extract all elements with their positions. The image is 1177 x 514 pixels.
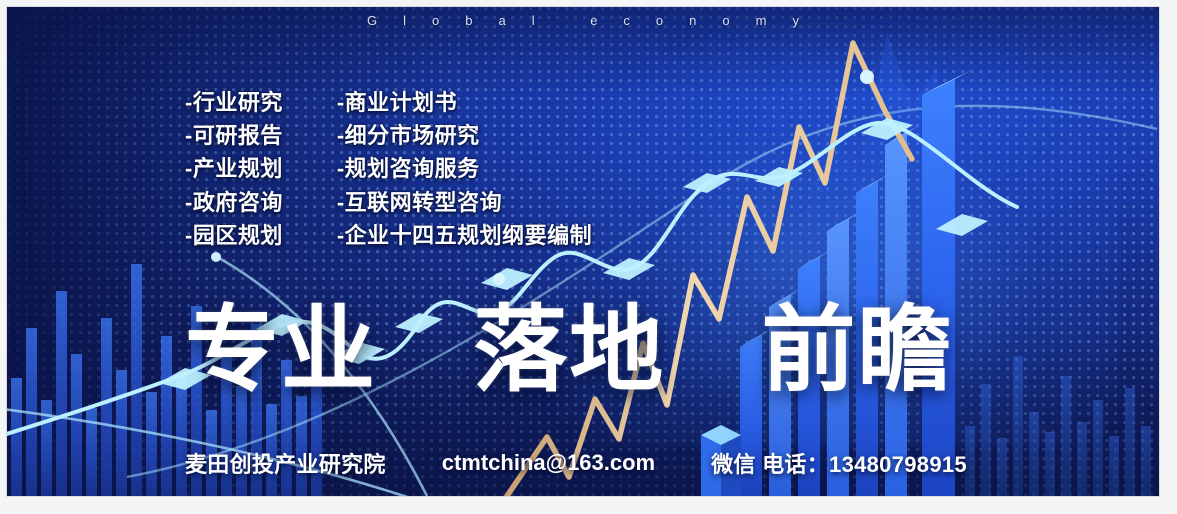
list-item: -可研报告	[185, 120, 283, 151]
bar-7	[922, 79, 955, 496]
footer-contact-bar: 麦田创投产业研究院 ctmtchina@163.com 微信 电话：134807…	[185, 447, 967, 479]
economy-growth-chart	[7, 7, 1159, 496]
list-item: -产业规划	[185, 153, 283, 184]
list-item: -商业计划书	[337, 87, 592, 118]
list-item: -细分市场研究	[337, 120, 592, 151]
list-item: -园区规划	[185, 220, 283, 251]
services-column-left: -行业研究 -可研报告 -产业规划 -政府咨询 -园区规划	[185, 87, 283, 251]
arc-node-dot	[211, 252, 221, 262]
diamond-marker	[603, 258, 655, 280]
banner-artwork: Global economy -行业研究 -可研报告 -产业规划 -政府咨询 -…	[7, 7, 1159, 496]
promotional-banner: Global economy -行业研究 -可研报告 -产业规划 -政府咨询 -…	[0, 0, 1177, 514]
list-item: -企业十四五规划纲要编制	[337, 220, 592, 251]
services-column-right: -商业计划书 -细分市场研究 -规划咨询服务 -互联网转型咨询 -企业十四五规划…	[337, 87, 592, 251]
list-item: -规划咨询服务	[337, 153, 592, 184]
email-address[interactable]: ctmtchina@163.com	[442, 450, 655, 476]
headline-part-1: 专业	[185, 297, 377, 402]
list-item: -政府咨询	[185, 187, 283, 218]
cyan-node	[493, 273, 505, 285]
page-title: 专业 落地 前瞻	[185, 303, 954, 397]
cyan-peak-node	[860, 70, 874, 84]
company-name: 麦田创投产业研究院	[185, 447, 386, 479]
list-item: -行业研究	[185, 87, 283, 118]
services-lists: -行业研究 -可研报告 -产业规划 -政府咨询 -园区规划 -商业计划书 -细分…	[185, 87, 592, 251]
kicker-global-economy: Global economy	[7, 13, 1159, 28]
phone-wechat: 微信 电话：13480798915	[711, 447, 967, 479]
headline-part-3: 前瞻	[762, 297, 954, 402]
list-item: -互联网转型咨询	[337, 187, 592, 218]
headline-part-2: 落地	[473, 297, 665, 402]
